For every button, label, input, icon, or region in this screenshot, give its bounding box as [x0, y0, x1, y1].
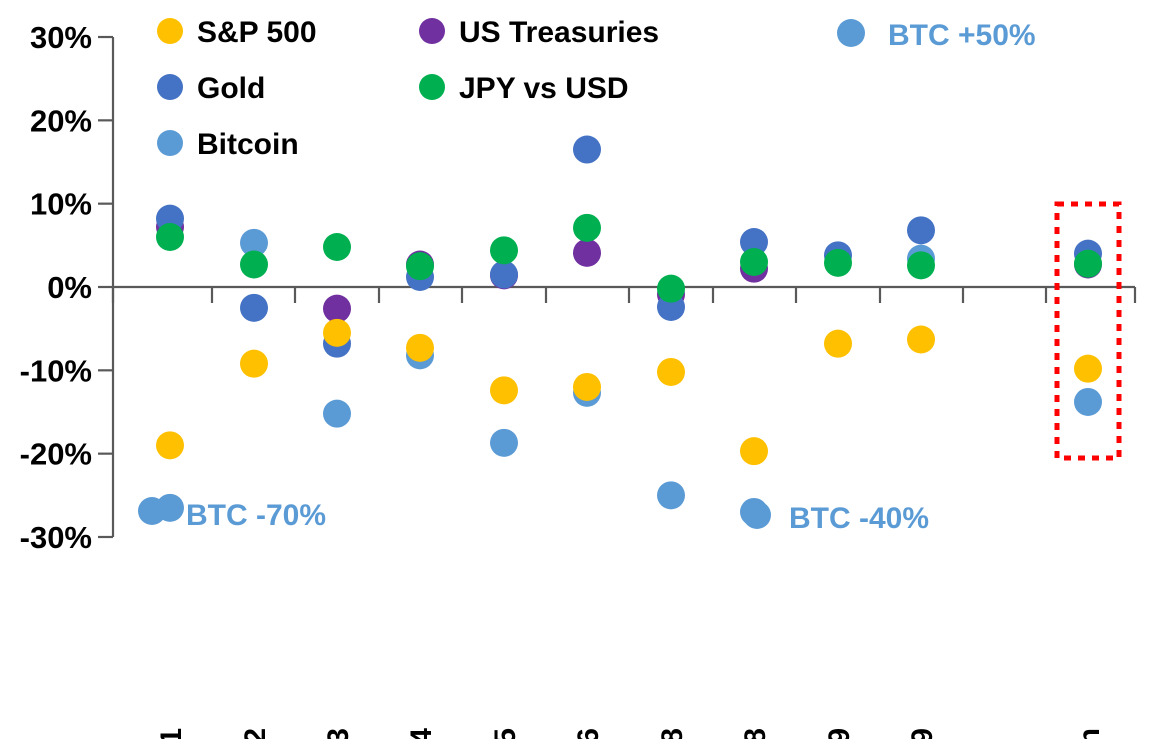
- data-point: [323, 400, 351, 428]
- data-point: [573, 136, 601, 164]
- data-point: [156, 431, 184, 459]
- legend-item-label: JPY vs USD: [459, 72, 629, 105]
- y-tick-label: 30%: [30, 20, 92, 55]
- legend-item-bitcoin[interactable]: Bitcoin: [157, 128, 299, 161]
- annotation-btc-+50-: BTC +50%: [837, 19, 1036, 52]
- data-point: [490, 261, 518, 289]
- x-tick-label: Aug/Sep-11: [155, 728, 188, 739]
- y-tick-marks: [98, 37, 113, 537]
- data-point: [907, 251, 935, 279]
- x-tick-label: May-12: [239, 728, 272, 739]
- legend-item-s-p-500[interactable]: S&P 500: [157, 16, 317, 49]
- y-tick-label: -30%: [20, 520, 92, 555]
- data-point: [573, 214, 601, 242]
- x-tick-label: Jun-13: [322, 728, 355, 739]
- y-tick-label: 20%: [30, 103, 92, 138]
- y-tick-label: 0%: [47, 270, 92, 305]
- x-tick-label: Aug-15: [489, 728, 522, 739]
- data-point: [657, 358, 685, 386]
- data-point: [406, 252, 434, 280]
- annotation-dot-icon: [837, 19, 865, 47]
- annotation-label: BTC -70%: [186, 499, 326, 532]
- data-point: [1074, 388, 1102, 416]
- data-point: [907, 325, 935, 353]
- annotation-label: BTC +50%: [888, 19, 1036, 52]
- data-point: [240, 294, 268, 322]
- series-s-p-500: [156, 319, 1102, 465]
- x-tick-label: Oct-14: [405, 728, 438, 739]
- legend-item-gold[interactable]: Gold: [157, 72, 265, 105]
- x-tick-label: Aug-19: [906, 728, 939, 739]
- y-tick-labels: 30%20%10%0%-10%-20%-30%: [20, 20, 92, 555]
- x-tick-label: Median: [1073, 728, 1106, 739]
- x-tick-label: Oct/Dec-18: [739, 728, 772, 739]
- legend-item-jpy-vs-usd[interactable]: JPY vs USD: [419, 72, 629, 105]
- y-tick-label: -10%: [20, 353, 92, 388]
- data-point: [573, 373, 601, 401]
- x-tick-labels: Aug/Sep-11May-12Jun-13Oct-14Aug-15Jan-16…: [155, 728, 1106, 739]
- legend-swatch-icon: [157, 18, 183, 44]
- data-point: [657, 275, 685, 303]
- data-point: [240, 251, 268, 279]
- legend-item-label: Gold: [197, 72, 265, 105]
- annotation-dot-icon: [138, 497, 166, 525]
- data-point: [740, 437, 768, 465]
- y-tick-label: 10%: [30, 187, 92, 222]
- legend-swatch-icon: [157, 130, 183, 156]
- legend-item-label: S&P 500: [197, 16, 317, 49]
- annotation-btc-40-: BTC -40%: [743, 501, 929, 535]
- scatter-chart: 30%20%10%0%-10%-20%-30% Aug/Sep-11May-12…: [0, 0, 1151, 739]
- y-axis: 30%20%10%0%-10%-20%-30%: [20, 20, 113, 555]
- x-tick-marks: [113, 287, 1135, 303]
- legend-item-label: Bitcoin: [197, 128, 299, 161]
- data-point: [740, 248, 768, 276]
- data-point: [323, 295, 351, 323]
- chart-container: 30%20%10%0%-10%-20%-30% Aug/Sep-11May-12…: [0, 0, 1151, 739]
- data-point: [824, 330, 852, 358]
- data-point: [490, 376, 518, 404]
- data-point: [824, 249, 852, 277]
- data-point: [323, 319, 351, 347]
- data-point: [1074, 250, 1102, 278]
- data-point: [573, 239, 601, 267]
- data-point: [406, 334, 434, 362]
- annotation-dot-icon: [743, 501, 771, 529]
- legend-item-label: US Treasuries: [459, 16, 659, 49]
- legend-item-us-treasuries[interactable]: US Treasuries: [419, 16, 659, 49]
- data-point: [490, 429, 518, 457]
- y-tick-label: -20%: [20, 437, 92, 472]
- data-point: [240, 350, 268, 378]
- data-point: [657, 481, 685, 509]
- legend-swatch-icon: [419, 74, 445, 100]
- x-tick-label: May-19: [823, 728, 856, 739]
- data-point: [323, 233, 351, 261]
- x-tick-label: Jan-16: [572, 728, 605, 739]
- series-us-treasuries: [156, 213, 1102, 323]
- x-tick-label: Feb-18: [656, 728, 689, 739]
- data-point: [490, 236, 518, 264]
- data-points-layer: [156, 136, 1102, 526]
- series-gold: [156, 136, 1102, 358]
- data-point: [156, 223, 184, 251]
- legend-swatch-icon: [419, 18, 445, 44]
- data-point: [907, 216, 935, 244]
- series-bitcoin: [156, 229, 1102, 526]
- annotation-label: BTC -40%: [789, 502, 929, 535]
- data-point: [1074, 355, 1102, 383]
- legend-swatch-icon: [157, 74, 183, 100]
